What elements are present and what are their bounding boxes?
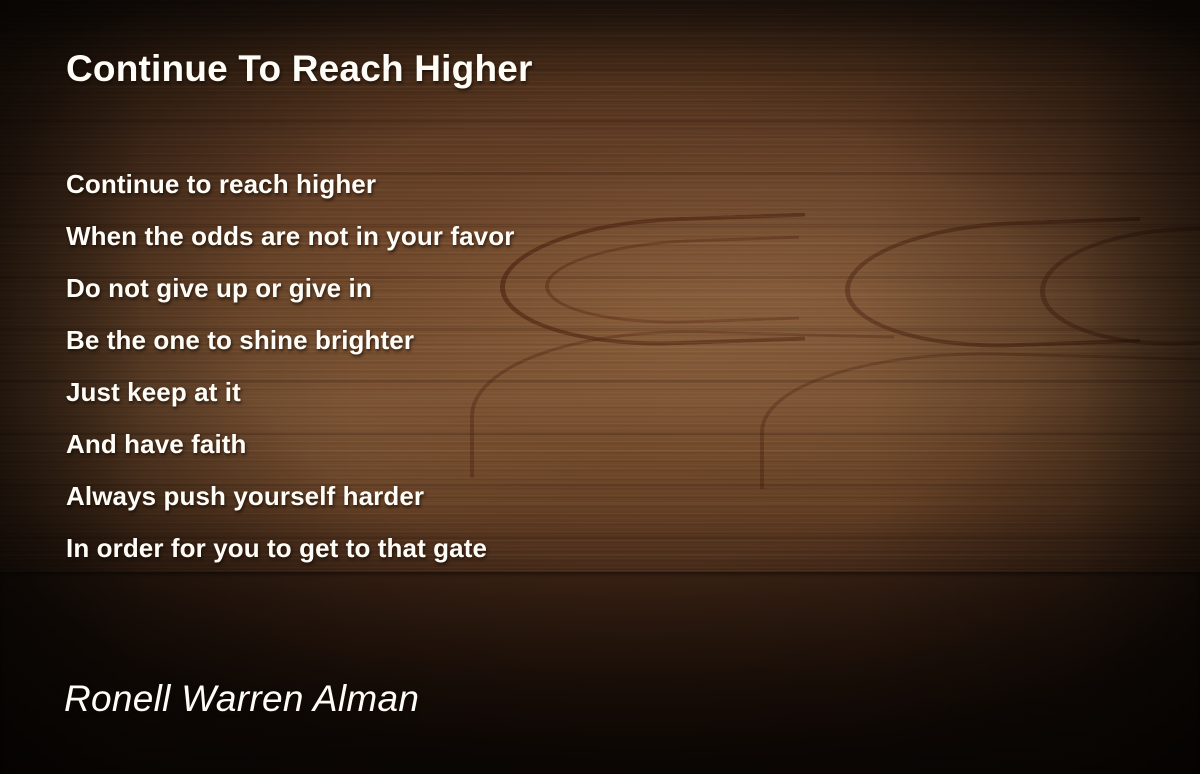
page-title: Continue To Reach Higher [66, 48, 533, 90]
poem-line: Do not give up or give in [66, 262, 966, 314]
poem-author: Ronell Warren Alman [64, 678, 419, 720]
poem-line: Be the one to shine brighter [66, 314, 966, 366]
poem-line: And have faith [66, 418, 966, 470]
poem-line: Just keep at it [66, 366, 966, 418]
poem-line: Continue to reach higher [66, 158, 966, 210]
poem-line: When the odds are not in your favor [66, 210, 966, 262]
poem-line: In order for you to get to that gate [66, 522, 966, 574]
poem-text-layer: Continue To Reach Higher Continue to rea… [0, 0, 1200, 774]
poem-line: Always push yourself harder [66, 470, 966, 522]
poem-body: Continue to reach higher When the odds a… [66, 158, 966, 574]
poem-image: Continue To Reach Higher Continue to rea… [0, 0, 1200, 774]
